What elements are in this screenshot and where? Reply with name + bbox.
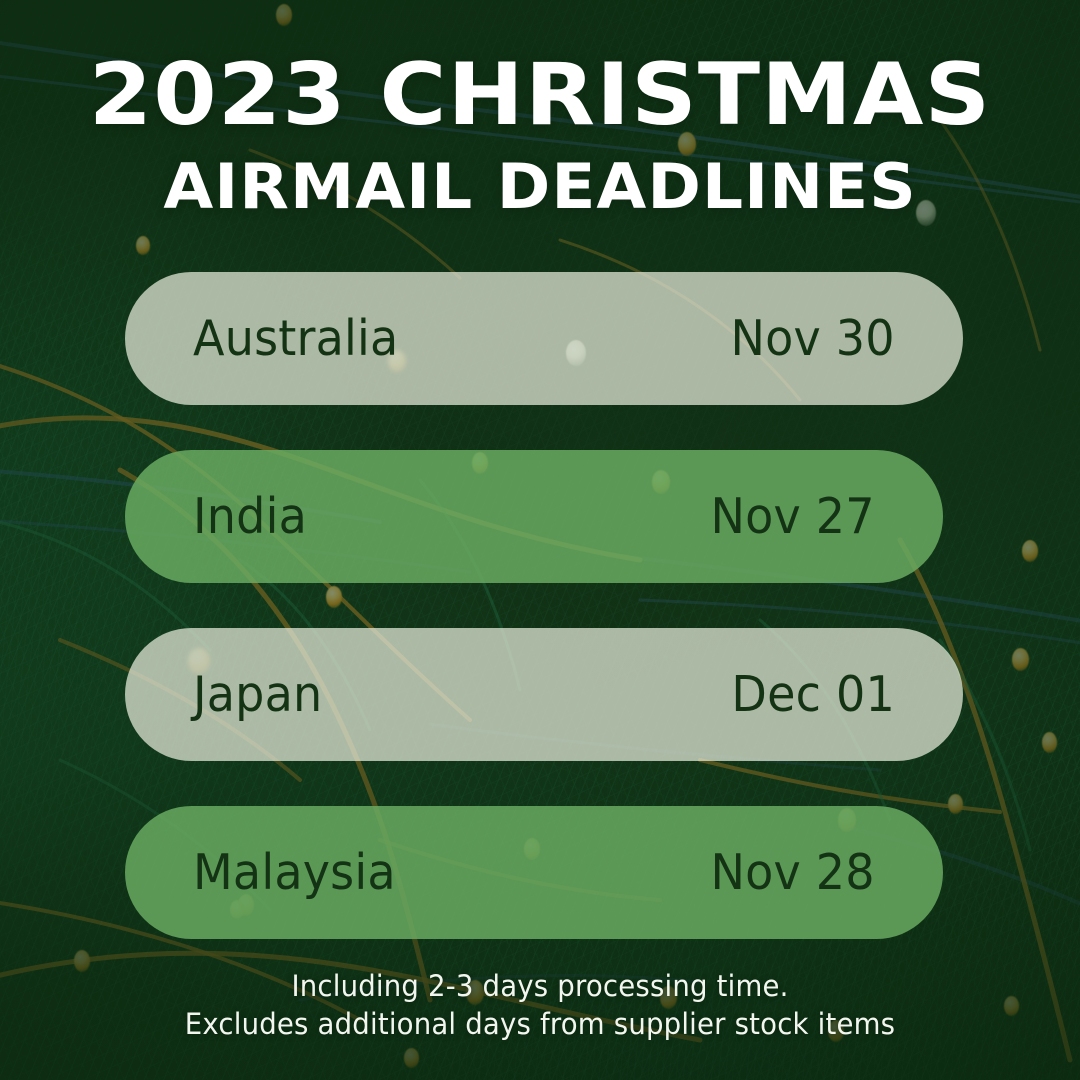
deadline-row-malaysia: Malaysia Nov 28 (125, 806, 943, 939)
deadline-row-india: India Nov 27 (125, 450, 943, 583)
title-line-1: 2023 CHRISTMAS (0, 52, 1080, 138)
row-country-label: Malaysia (193, 848, 396, 897)
row-date-value: Nov 30 (731, 314, 895, 363)
poster-content: 2023 CHRISTMAS AIRMAIL DEADLINES Austral… (0, 0, 1080, 1080)
poster-footnote: Including 2-3 days processing time. Excl… (0, 967, 1080, 1044)
christmas-airmail-deadlines-poster: 2023 CHRISTMAS AIRMAIL DEADLINES Austral… (0, 0, 1080, 1080)
poster-title: 2023 CHRISTMAS AIRMAIL DEADLINES (0, 52, 1080, 218)
row-country-label: Australia (193, 314, 398, 363)
title-line-2: AIRMAIL DEADLINES (0, 156, 1080, 218)
deadline-row-japan: Japan Dec 01 (125, 628, 963, 761)
footnote-line-1: Including 2-3 days processing time. (27, 967, 1053, 1006)
row-date-value: Dec 01 (731, 670, 895, 719)
row-country-label: Japan (193, 670, 322, 719)
row-date-value: Nov 27 (711, 492, 875, 541)
row-country-label: India (193, 492, 307, 541)
deadline-row-australia: Australia Nov 30 (125, 272, 963, 405)
footnote-line-2: Excludes additional days from supplier s… (27, 1005, 1053, 1044)
row-date-value: Nov 28 (711, 848, 875, 897)
deadline-rows: Australia Nov 30 India Nov 27 Japan Dec … (0, 272, 1080, 939)
